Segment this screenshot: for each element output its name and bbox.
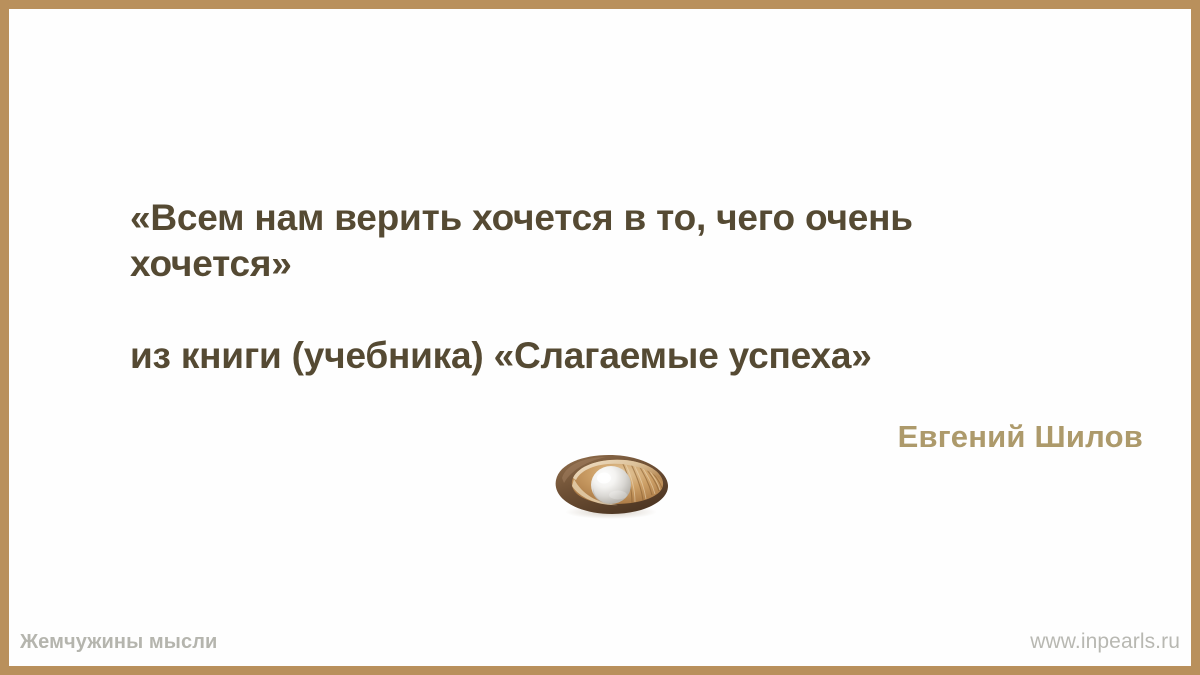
quote-block: «Всем нам верить хочется в то, чего очен… [130, 195, 1150, 379]
footer-brand: Жемчужины мысли [20, 630, 217, 654]
footer: Жемчужины мысли www.inpearls.ru [9, 625, 1191, 659]
author-name: Евгений Шилов [898, 418, 1143, 456]
quote-text: «Всем нам верить хочется в то, чего очен… [130, 195, 1080, 287]
quote-card: «Всем нам верить хочется в то, чего очен… [0, 0, 1200, 675]
footer-site-url[interactable]: www.inpearls.ru [1030, 630, 1180, 654]
quote-source: из книги (учебника) «Слагаемые успеха» [130, 333, 1150, 379]
oyster-shell-with-pearl-icon [550, 450, 672, 520]
